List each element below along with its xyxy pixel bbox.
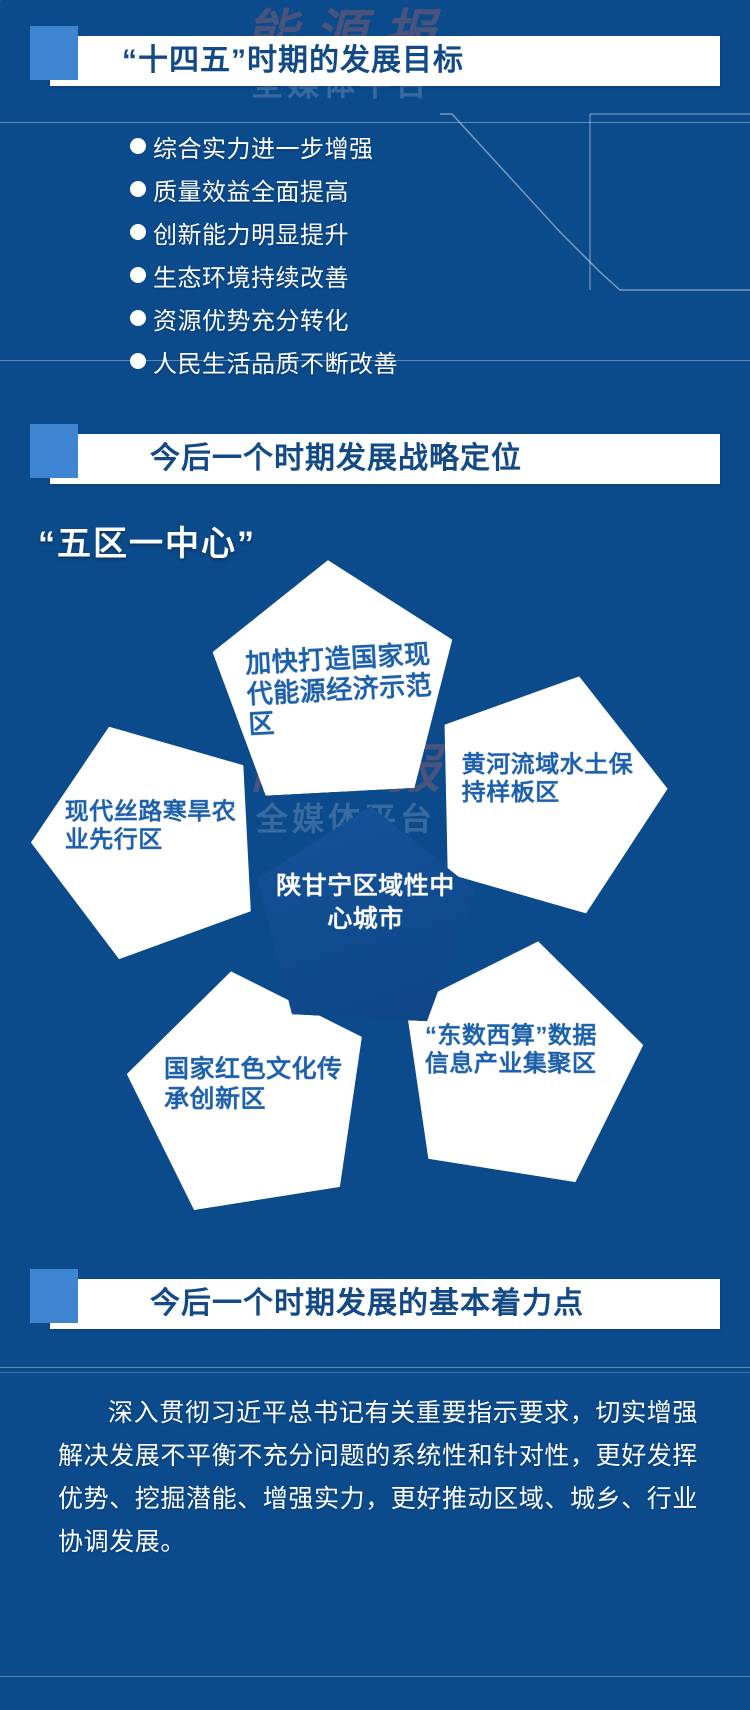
- section-header-goals: “十四五”时期的发展目标: [30, 26, 720, 80]
- header-accent-square: [30, 1269, 78, 1323]
- list-item: 生态环境持续改善: [130, 255, 550, 295]
- list-item: 创新能力明显提升: [130, 212, 550, 252]
- bullet-dot-icon: [130, 181, 146, 197]
- five-zones-diagram: 现代丝路寒旱农业先行区 加快打造国家现代能源经济示范区 黄河流域水土保持样板区 …: [0, 548, 750, 1248]
- section-title-strategy: 今后一个时期发展战略定位: [150, 434, 522, 484]
- list-item: 资源优势充分转化: [130, 298, 550, 338]
- divider-line-2: [0, 360, 750, 361]
- pentagon-top-label: 加快打造国家现代能源经济示范区: [244, 639, 435, 741]
- bullet-dot-icon: [130, 138, 146, 154]
- bullet-dot-icon: [130, 267, 146, 283]
- section-title-focus: 今后一个时期发展的基本着力点: [150, 1279, 584, 1329]
- goal-label: 生态环境持续改善: [153, 258, 349, 293]
- divider-line-4: [0, 1372, 750, 1373]
- goal-label: 资源优势充分转化: [153, 301, 349, 336]
- goal-label: 综合实力进一步增强: [153, 129, 374, 164]
- goal-label: 人民生活品质不断改善: [153, 344, 398, 379]
- goal-label: 创新能力明显提升: [153, 215, 349, 250]
- divider-line-5: [0, 1676, 750, 1677]
- section-header-strategy: 今后一个时期发展战略定位: [30, 424, 720, 478]
- pentagon-top: 加快打造国家现代能源经济示范区: [208, 554, 460, 798]
- header-accent-square: [30, 26, 78, 80]
- list-item: 质量效益全面提高: [130, 169, 550, 209]
- goals-list: 综合实力进一步增强 质量效益全面提高 创新能力明显提升 生态环境持续改善 资源优…: [130, 126, 550, 384]
- section-header-focus: 今后一个时期发展的基本着力点: [30, 1269, 720, 1323]
- bullet-dot-icon: [130, 353, 146, 369]
- pentagon-left-label: 现代丝路寒旱农业先行区: [65, 798, 237, 855]
- divider-line-1: [0, 122, 750, 123]
- pentagon-bottom-left-label: 国家红色文化传承创新区: [164, 1055, 344, 1114]
- pentagon-bottom-right-label: “东数西算”数据信息产业集聚区: [425, 1022, 621, 1079]
- bullet-dot-icon: [130, 310, 146, 326]
- pentagon-right-label: 黄河流域水土保持样板区: [462, 751, 646, 808]
- list-item: 人民生活品质不断改善: [130, 341, 550, 381]
- pentagon-center-label: 陕甘宁区域性中心城市: [274, 870, 456, 935]
- section-title-goals: “十四五”时期的发展目标: [122, 36, 464, 86]
- goal-label: 质量效益全面提高: [153, 172, 349, 207]
- list-item: 综合实力进一步增强: [130, 126, 550, 166]
- focus-paragraph: 深入贯彻习近平总书记有关重要指示要求，切实增强解决发展不平衡不充分问题的系统性和…: [58, 1392, 698, 1564]
- bullet-dot-icon: [130, 224, 146, 240]
- divider-line-3: [0, 1367, 750, 1368]
- infographic-page: 能 源 报 全媒体平台 “十四五”时期的发展目标 综合实力进一步增强 质量效益全…: [0, 0, 750, 1710]
- header-accent-square: [30, 424, 78, 478]
